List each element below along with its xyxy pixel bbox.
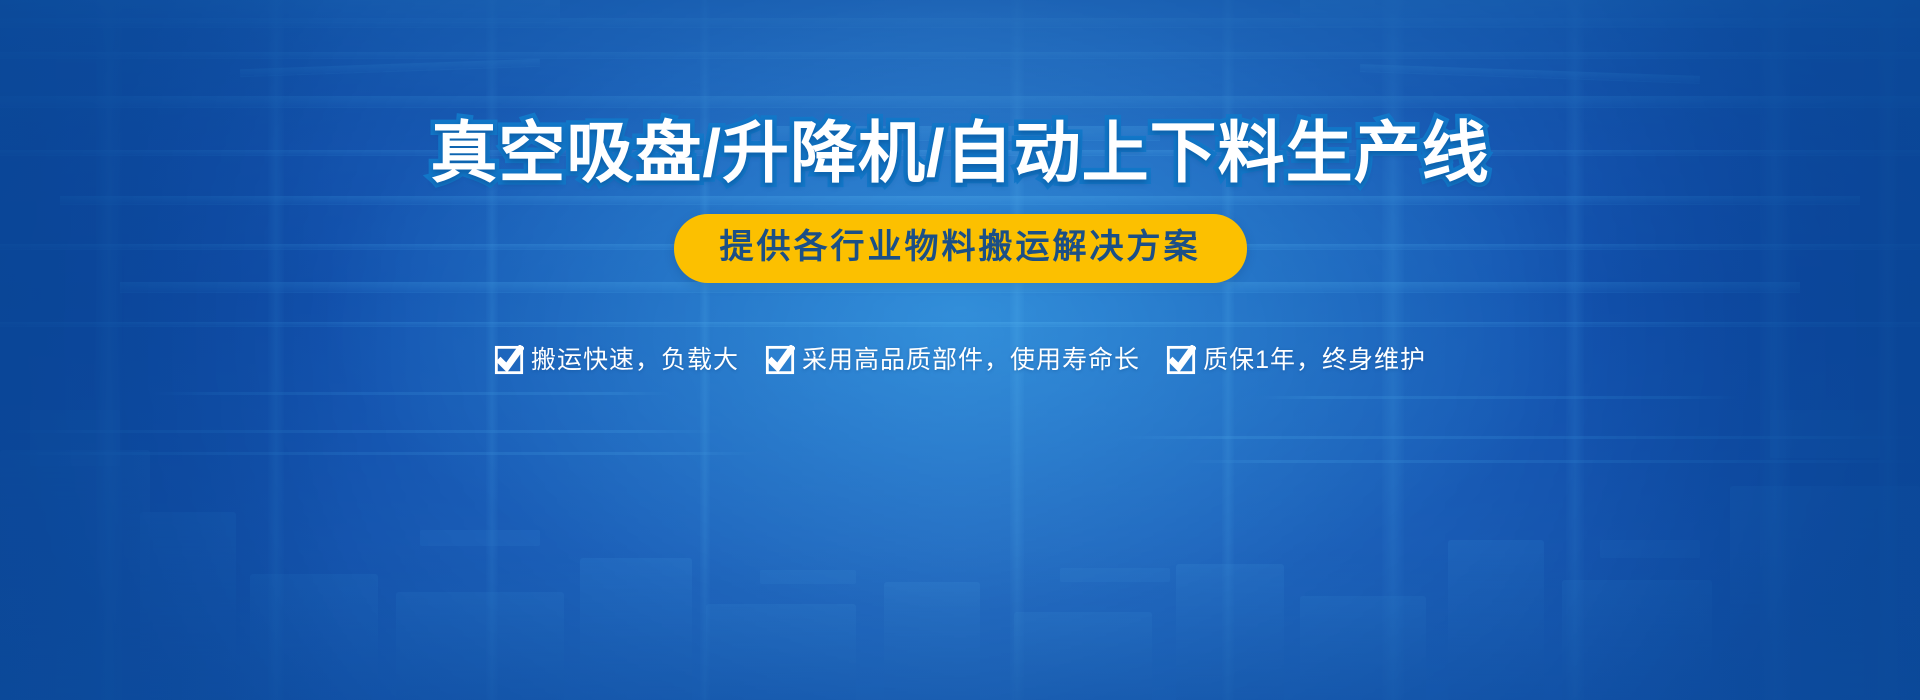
banner-headline: 真空吸盘/升降机/自动上下料生产线: [430, 120, 1489, 187]
feature-label: 搬运快速，负载大: [531, 348, 739, 373]
checkbox-checked-icon: [1166, 345, 1196, 375]
checkbox-checked-icon: [765, 345, 795, 375]
banner-content: 真空吸盘/升降机/自动上下料生产线 提供各行业物料搬运解决方案 搬运快速，负载大…: [0, 0, 1920, 700]
feature-label: 质保1年，终身维护: [1203, 348, 1426, 373]
feature-item: 搬运快速，负载大: [494, 345, 739, 375]
feature-list: 搬运快速，负载大 采用高品质部件，使用寿命长 质保1年，终身维护: [494, 345, 1426, 375]
banner-subtitle-pill: 提供各行业物料搬运解决方案: [674, 214, 1247, 283]
hero-banner: 真空吸盘/升降机/自动上下料生产线 提供各行业物料搬运解决方案 搬运快速，负载大…: [0, 0, 1920, 700]
feature-label: 采用高品质部件，使用寿命长: [802, 348, 1140, 373]
feature-item: 采用高品质部件，使用寿命长: [765, 345, 1140, 375]
checkbox-checked-icon: [494, 345, 524, 375]
feature-item: 质保1年，终身维护: [1166, 345, 1426, 375]
